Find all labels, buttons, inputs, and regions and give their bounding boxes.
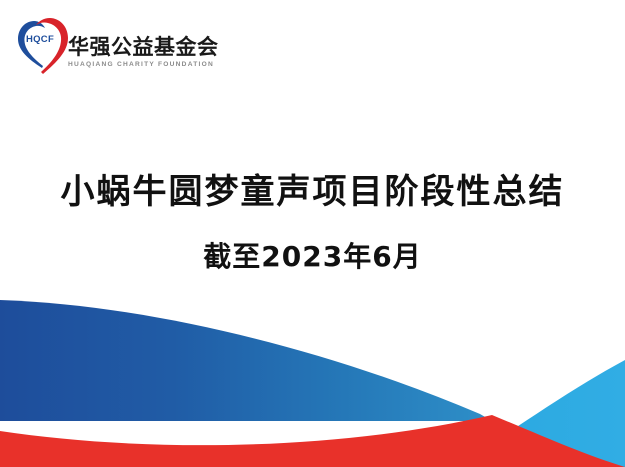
wave-shape-cyan: [455, 360, 625, 467]
logo-name-cn: 华强公益基金会: [68, 36, 218, 58]
slide-main-title: 小蜗牛圆梦童声项目阶段性总结: [0, 164, 625, 213]
logo-name-en: HUAQIANG CHARITY FOUNDATION: [68, 61, 218, 68]
logo-monogram-text: HQCF: [26, 34, 54, 45]
foundation-logo: HQCF 华强公益基金会 HUAQIANG CHARITY FOUNDATION: [10, 8, 220, 84]
slide-subtitle: 截至2023年6月: [0, 235, 625, 275]
presentation-title-slide: HQCF 华强公益基金会 HUAQIANG CHARITY FOUNDATION…: [0, 0, 625, 467]
wave-shape-red: [0, 415, 625, 467]
hqcf-heart-logo-icon: HQCF: [12, 12, 74, 78]
logo-wordmark: 华强公益基金会 HUAQIANG CHARITY FOUNDATION: [68, 36, 218, 68]
wave-shape-blue: [0, 300, 492, 421]
